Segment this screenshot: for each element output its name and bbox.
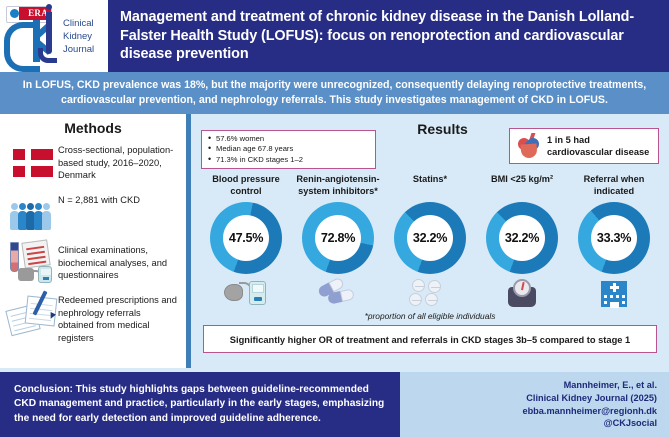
methods-item-label: Redeemed prescriptions and nephrology re… — [58, 292, 178, 344]
methods-item: N = 2,881 with CKD — [8, 192, 178, 234]
donut-value: 47.5% — [229, 231, 263, 245]
logo-j-hook-icon — [38, 48, 57, 63]
methods-item: Clinical examinations, biochemical analy… — [8, 242, 178, 284]
donut-chart-referral: Referral when indicated 33.3% — [571, 174, 657, 310]
cohort-fact: Median age 67.8 years — [216, 144, 369, 154]
citation-journal: Clinical Kidney Journal (2025) — [526, 392, 657, 405]
hospital-icon — [571, 276, 657, 310]
page-title: Management and treatment of chronic kidn… — [120, 8, 659, 64]
danish-flag-icon — [8, 142, 58, 184]
cohort-fact: 71.3% in CKD stages 1–2 — [216, 155, 369, 165]
lab-sample-icon — [8, 242, 58, 284]
summary-text: In LOFUS, CKD prevalence was 18%, but th… — [8, 78, 661, 108]
cohort-fact: 57.6% women — [216, 134, 369, 144]
donut-ring: 33.3% — [578, 202, 650, 274]
page-title-container: Management and treatment of chronic kidn… — [108, 0, 669, 72]
significance-banner: Significantly higher OR of treatment and… — [203, 325, 657, 353]
cvd-callout-line-1: 1 in 5 had — [547, 134, 649, 146]
donut-value: 32.2% — [413, 231, 447, 245]
era-badge-label: ERA — [28, 8, 48, 18]
citation-box: Mannheimer, E., et al. Clinical Kidney J… — [400, 372, 669, 437]
citation-authors: Mannheimer, E., et al. — [564, 379, 657, 392]
methods-panel: Methods Cross-sectional, population-base… — [0, 114, 186, 372]
journal-name-line-1: Clinical — [63, 17, 94, 30]
donut-ring: 72.8% — [302, 202, 374, 274]
cohort-facts-box: 57.6% women Median age 67.8 years 71.3% … — [201, 130, 376, 169]
conclusion-text: Conclusion: This study highlights gaps b… — [14, 383, 386, 426]
donut-ring: 47.5% — [210, 202, 282, 274]
methods-title: Methods — [8, 120, 178, 136]
journal-name-line-3: Journal — [63, 43, 94, 56]
donut-value: 32.2% — [505, 231, 539, 245]
medical-records-icon — [8, 292, 58, 334]
donut-chart-statins: Statins* 32.2% — [387, 174, 473, 310]
donut-label: Referral when indicated — [571, 174, 657, 198]
donut-chart-bmi: BMI <25 kg/m² 32.2% — [479, 174, 565, 310]
infographic-poster: ERA Clinical Kidney Journal Mana — [0, 0, 669, 437]
ckj-logo-mark: ERA — [0, 0, 62, 72]
methods-item-label: Clinical examinations, biochemical analy… — [58, 242, 178, 282]
blood-pressure-monitor-icon — [203, 276, 289, 310]
capsule-icon — [295, 276, 381, 310]
methods-item-label: N = 2,881 with CKD — [58, 192, 178, 207]
donut-ring: 32.2% — [394, 202, 466, 274]
cvd-callout-line-2: cardiovascular disease — [547, 146, 649, 158]
journal-name-line-2: Kidney — [63, 30, 94, 43]
significance-text: Significantly higher OR of treatment and… — [230, 335, 630, 345]
results-title: Results — [376, 118, 509, 137]
journal-logo: ERA Clinical Kidney Journal — [0, 0, 108, 72]
people-group-icon — [8, 192, 58, 234]
citation-social-handle: @CKJsocial — [604, 417, 657, 430]
logo-letter-j-dot-icon — [46, 4, 52, 10]
tablet-pills-icon — [387, 276, 473, 310]
journal-name: Clinical Kidney Journal — [62, 17, 94, 56]
donut-chart-ras-inhibitors: Renin-angiotensin-system inhibitors* 72.… — [295, 174, 381, 310]
donut-label: Blood pressure control — [203, 174, 289, 198]
results-footnote: *proportion of all eligible individuals — [191, 311, 669, 321]
donut-label: Renin-angiotensin-system inhibitors* — [295, 174, 381, 198]
donut-value: 33.3% — [597, 231, 631, 245]
donut-label: BMI <25 kg/m² — [479, 174, 565, 198]
header-banner: ERA Clinical Kidney Journal Mana — [0, 0, 669, 72]
donut-chart-blood-pressure-control: Blood pressure control 47.5% — [203, 174, 289, 310]
methods-item-label: Cross-sectional, population-based study,… — [58, 142, 178, 182]
methods-item: Cross-sectional, population-based study,… — [8, 142, 178, 184]
cvd-callout-box: 1 in 5 had cardiovascular disease — [509, 128, 659, 164]
results-panel: 57.6% women Median age 67.8 years 71.3% … — [191, 114, 669, 372]
summary-band: In LOFUS, CKD prevalence was 18%, but th… — [0, 72, 669, 114]
donut-value: 72.8% — [321, 231, 355, 245]
donut-ring: 32.2% — [486, 202, 558, 274]
footer-banner: Conclusion: This study highlights gaps b… — [0, 372, 669, 437]
weighing-scale-icon — [479, 276, 565, 310]
results-header-row: 57.6% women Median age 67.8 years 71.3% … — [191, 114, 669, 172]
methods-item: Redeemed prescriptions and nephrology re… — [8, 292, 178, 344]
heart-icon — [516, 133, 542, 159]
conclusion-box: Conclusion: This study highlights gaps b… — [0, 372, 400, 437]
main-content: Methods Cross-sectional, population-base… — [0, 114, 669, 372]
citation-email: ebba.mannheimer@regionh.dk — [522, 405, 657, 418]
donut-label: Statins* — [387, 174, 473, 198]
donut-chart-row: Blood pressure control 47.5% Renin-angio… — [191, 174, 669, 310]
